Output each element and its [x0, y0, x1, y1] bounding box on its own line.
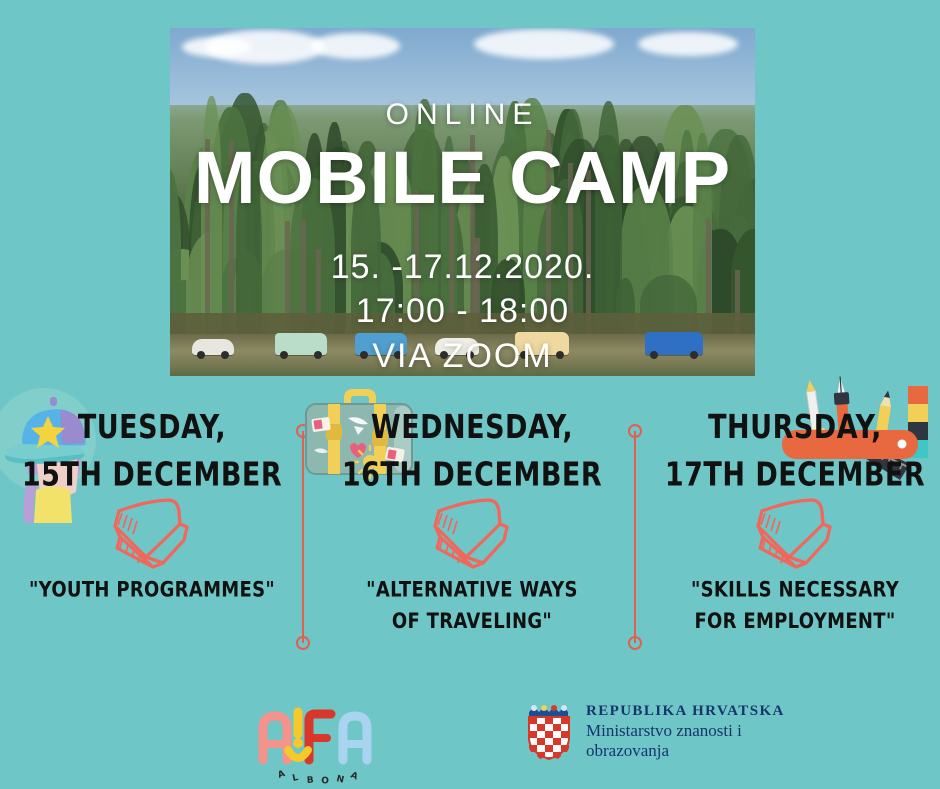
day-heading: THURSDAY, 17TH DECEMBER [645, 404, 940, 500]
divider-line [634, 431, 636, 643]
poster-canvas: ONLINE MOBILE CAMP 15. -17.12.2020. 17:0… [0, 0, 940, 788]
hero-kicker: ONLINE [386, 100, 540, 130]
day-topic-line1: "SKILLS NECESSARY [645, 575, 940, 606]
day-topic-line2: OF TRAVELING" [322, 606, 622, 637]
divider-dot-bottom [628, 636, 642, 650]
day-topic: "YOUTH PROGRAMMES" [2, 575, 302, 606]
ministry-text: REPUBLIKA HRVATSKA Ministarstvo znanosti… [586, 702, 785, 762]
day-topic-line2: FOR EMPLOYMENT" [645, 606, 940, 637]
day-column-3: THURSDAY, 17TH DECEMBER [645, 404, 940, 627]
book-icon-wrapper [322, 493, 622, 575]
day-heading: TUESDAY, 15TH DECEMBER [2, 404, 302, 500]
column-divider-2 [628, 424, 642, 650]
ministry-logo: REPUBLIKA HRVATSKA Ministarstvo znanosti… [525, 702, 785, 762]
hero-time-range: 17:00 - 18:00 [356, 289, 569, 334]
day-date: 15TH DECEMBER [2, 452, 302, 500]
day-topic-line1: "YOUTH PROGRAMMES" [2, 575, 302, 606]
svg-text:A: A [349, 771, 359, 783]
hero-platform: VIA ZOOM [372, 334, 552, 376]
hero-text-block: ONLINE MOBILE CAMP 15. -17.12.2020. 17:0… [170, 28, 755, 376]
day-heading: WEDNESDAY, 16TH DECEMBER [322, 404, 622, 500]
hero-title: MOBILE CAMP [194, 142, 731, 215]
svg-text:B: B [307, 776, 315, 784]
svg-text:L: L [292, 773, 300, 784]
ministry-line-1: REPUBLIKA HRVATSKA [586, 702, 785, 721]
day-date: 17TH DECEMBER [645, 452, 940, 500]
day-weekday: TUESDAY, [2, 404, 302, 452]
notebook-icon [426, 493, 518, 571]
day-date: 16TH DECEMBER [322, 452, 622, 500]
svg-text:N: N [335, 774, 345, 784]
day-topic: "ALTERNATIVE WAYS OF TRAVELING" [322, 575, 622, 638]
day-topic: "SKILLS NECESSARY FOR EMPLOYMENT" [645, 575, 940, 638]
notebook-icon [749, 493, 841, 571]
book-icon-wrapper [645, 493, 940, 575]
day-weekday: WEDNESDAY, [322, 404, 622, 452]
day-weekday: THURSDAY, [645, 404, 940, 452]
alfa-albona-logo: A L B O N A [255, 698, 375, 784]
notebook-icon [106, 493, 198, 571]
day-column-2: WEDNESDAY, 16TH DECEMBER [322, 404, 622, 627]
svg-text:A: A [277, 769, 287, 781]
ministry-line-3: obrazovanja [586, 741, 785, 762]
hero-photo: ONLINE MOBILE CAMP 15. -17.12.2020. 17:0… [170, 28, 755, 376]
ministry-line-2: Ministarstvo znanosti i [586, 721, 785, 742]
divider-dot-bottom [296, 636, 310, 650]
day-topic-line1: "ALTERNATIVE WAYS [322, 575, 622, 606]
svg-text:O: O [321, 776, 330, 784]
hero-date-range: 15. -17.12.2020. [331, 245, 595, 290]
croatian-coat-of-arms-icon [525, 702, 573, 762]
